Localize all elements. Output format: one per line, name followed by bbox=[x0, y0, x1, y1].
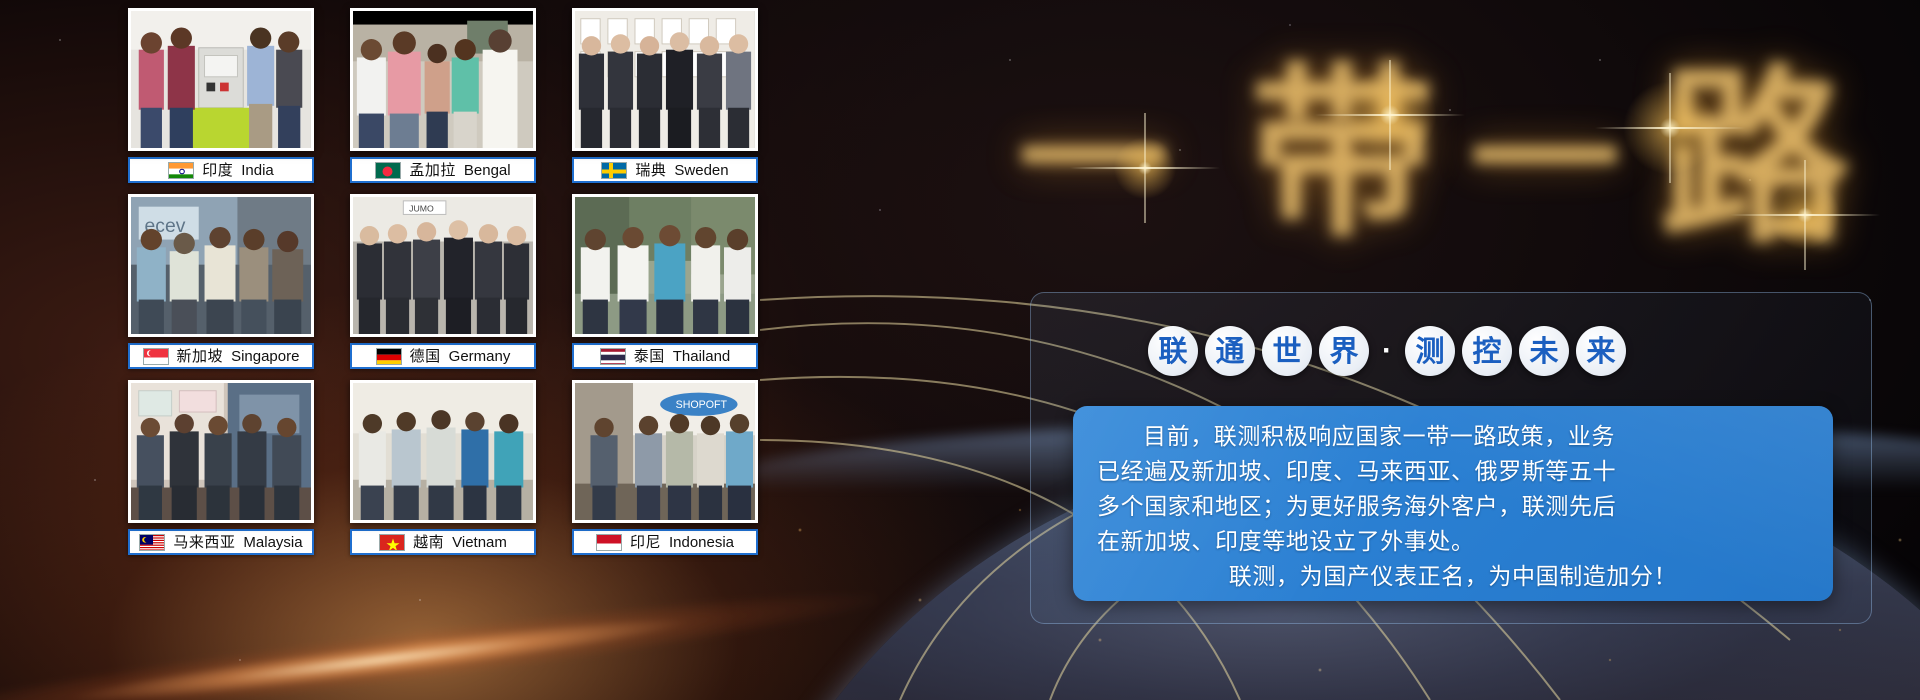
slogan-char: 测 bbox=[1415, 337, 1444, 366]
photo-thailand bbox=[572, 194, 758, 337]
gallery-item-sweden[interactable]: 瑞典 Sweden bbox=[572, 8, 768, 193]
banner-stage: 印度 India bbox=[0, 0, 1920, 700]
description-line: 在新加坡、印度等地设立了外事处。 bbox=[1097, 525, 1809, 560]
slogan-badges: 联 通 世 界 · 测 控 未 来 bbox=[1148, 326, 1626, 376]
caption-en: Singapore bbox=[231, 349, 299, 364]
caption-bengal: 孟加拉 Bengal bbox=[350, 157, 536, 183]
description-line: 目前，联测积极响应国家一带一路政策，业务 bbox=[1097, 420, 1809, 455]
calligraphy-char-3: 一 bbox=[1470, 40, 1620, 257]
slogan-badge: 未 bbox=[1519, 326, 1569, 376]
description-line: 联测，为国产仪表正名，为中国制造加分！ bbox=[1097, 560, 1809, 595]
description-line: 已经遍及新加坡、印度、马来西亚、俄罗斯等五十 bbox=[1097, 455, 1809, 490]
caption-cn: 越南 bbox=[413, 535, 444, 550]
caption-cn: 印尼 bbox=[630, 535, 661, 550]
gallery-item-vietnam[interactable]: 越南 Vietnam bbox=[350, 380, 546, 565]
slogan-badge: 控 bbox=[1462, 326, 1512, 376]
slogan-char: 来 bbox=[1586, 337, 1615, 366]
slogan-badge: 测 bbox=[1405, 326, 1455, 376]
photo-bengal bbox=[350, 8, 536, 151]
photo-vietnam bbox=[350, 380, 536, 523]
svg-text:SHOPOFT: SHOPOFT bbox=[676, 399, 728, 411]
caption-cn: 德国 bbox=[410, 349, 441, 364]
caption-en: Sweden bbox=[674, 163, 728, 178]
caption-en: India bbox=[241, 163, 274, 178]
caption-germany: 德国 Germany bbox=[350, 343, 536, 369]
calligraphy-char-4: 路 bbox=[1660, 4, 1850, 279]
photo-india bbox=[128, 8, 314, 151]
caption-en: Malaysia bbox=[243, 535, 302, 550]
country-photo-grid: 印度 India bbox=[128, 8, 768, 588]
flag-bangladesh-icon bbox=[375, 162, 401, 179]
caption-cn: 马来西亚 bbox=[173, 535, 235, 550]
caption-vietnam: 越南 Vietnam bbox=[350, 529, 536, 555]
gallery-item-indonesia[interactable]: SHOPOFT 印尼 Indonesia bbox=[572, 380, 768, 565]
slogan-badge: 通 bbox=[1205, 326, 1255, 376]
photo-singapore: ecev bbox=[128, 194, 314, 337]
slogan-separator-dot: · bbox=[1376, 334, 1398, 368]
gallery-item-bengal[interactable]: 孟加拉 Bengal bbox=[350, 8, 546, 193]
caption-en: Bengal bbox=[464, 163, 511, 178]
gallery-item-germany[interactable]: JUMO 德国 Germany bbox=[350, 194, 546, 379]
calligraphy-char-1: 一 bbox=[1018, 40, 1168, 257]
slogan-char: 联 bbox=[1158, 337, 1187, 366]
caption-cn: 孟加拉 bbox=[409, 163, 456, 178]
caption-thailand: 泰国 Thailand bbox=[572, 343, 758, 369]
caption-cn: 新加坡 bbox=[177, 349, 224, 364]
slogan-char: 通 bbox=[1215, 337, 1244, 366]
caption-en: Thailand bbox=[673, 349, 731, 364]
caption-singapore: 新加坡 Singapore bbox=[128, 343, 314, 369]
flag-singapore-icon bbox=[143, 348, 169, 365]
slogan-badge: 联 bbox=[1148, 326, 1198, 376]
caption-cn: 瑞典 bbox=[635, 163, 666, 178]
svg-text:JUMO: JUMO bbox=[409, 204, 434, 214]
slogan-char: 世 bbox=[1272, 337, 1301, 366]
slogan-char: 未 bbox=[1529, 337, 1558, 366]
caption-india: 印度 India bbox=[128, 157, 314, 183]
flag-indonesia-icon bbox=[596, 534, 622, 551]
photo-germany: JUMO bbox=[350, 194, 536, 337]
slogan-char: 控 bbox=[1472, 337, 1501, 366]
caption-cn: 泰国 bbox=[634, 349, 665, 364]
gallery-item-malaysia[interactable]: 马来西亚 Malaysia bbox=[128, 380, 324, 565]
caption-indonesia: 印尼 Indonesia bbox=[572, 529, 758, 555]
caption-en: Indonesia bbox=[669, 535, 734, 550]
slogan-badge: 来 bbox=[1576, 326, 1626, 376]
caption-en: Germany bbox=[449, 349, 511, 364]
description-panel: 目前，联测积极响应国家一带一路政策，业务 已经遍及新加坡、印度、马来西亚、俄罗斯… bbox=[1073, 406, 1833, 601]
caption-en: Vietnam bbox=[452, 535, 507, 550]
description-line: 多个国家和地区；为更好服务海外客户，联测先后 bbox=[1097, 490, 1809, 525]
flag-india-icon bbox=[168, 162, 194, 179]
slogan-badge: 世 bbox=[1262, 326, 1312, 376]
photo-malaysia bbox=[128, 380, 314, 523]
slogan-char: 界 bbox=[1329, 337, 1358, 366]
flag-sweden-icon bbox=[601, 162, 627, 179]
photo-sweden bbox=[572, 8, 758, 151]
calligraphy-char-2: 带 bbox=[1250, 4, 1435, 272]
calligraphy-title: 一 带 一 路 bbox=[1000, 10, 1900, 225]
flag-germany-icon bbox=[376, 348, 402, 365]
slogan-badge: 界 bbox=[1319, 326, 1369, 376]
caption-sweden: 瑞典 Sweden bbox=[572, 157, 758, 183]
gallery-item-india[interactable]: 印度 India bbox=[128, 8, 324, 193]
flag-vietnam-icon bbox=[379, 534, 405, 551]
caption-cn: 印度 bbox=[202, 163, 233, 178]
caption-malaysia: 马来西亚 Malaysia bbox=[128, 529, 314, 555]
flag-thailand-icon bbox=[600, 348, 626, 365]
gallery-item-thailand[interactable]: 泰国 Thailand bbox=[572, 194, 768, 379]
gallery-item-singapore[interactable]: ecev 新加坡 Singapore bbox=[128, 194, 324, 379]
photo-indonesia: SHOPOFT bbox=[572, 380, 758, 523]
flag-malaysia-icon bbox=[139, 534, 165, 551]
